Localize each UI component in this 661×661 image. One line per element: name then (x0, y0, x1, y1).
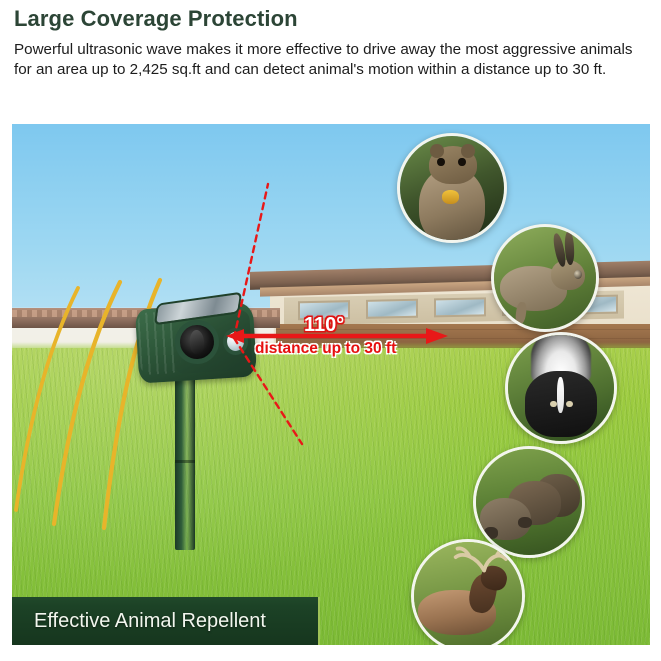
angle-line-upper (234, 184, 268, 338)
elk-antlers-icon (414, 542, 522, 645)
animal-photo-skunk (505, 332, 617, 444)
page-title: Large Coverage Protection (14, 6, 634, 32)
scene-photo: 110° distance up to 30 ft (12, 124, 650, 645)
description-paragraph: Powerful ultrasonic wave makes it more e… (14, 40, 634, 79)
animal-photo-hare (491, 224, 599, 332)
product-feature-graphic: Large Coverage Protection Powerful ultra… (0, 0, 661, 661)
distance-label: distance up to 30 ft (255, 340, 396, 358)
animal-photo-squirrel (397, 133, 507, 243)
bottom-banner-label: Effective Animal Repellent (12, 610, 266, 633)
angle-label: 110° (304, 314, 344, 337)
animal-photo-elk (411, 539, 525, 645)
bottom-banner: Effective Animal Repellent (12, 597, 320, 645)
